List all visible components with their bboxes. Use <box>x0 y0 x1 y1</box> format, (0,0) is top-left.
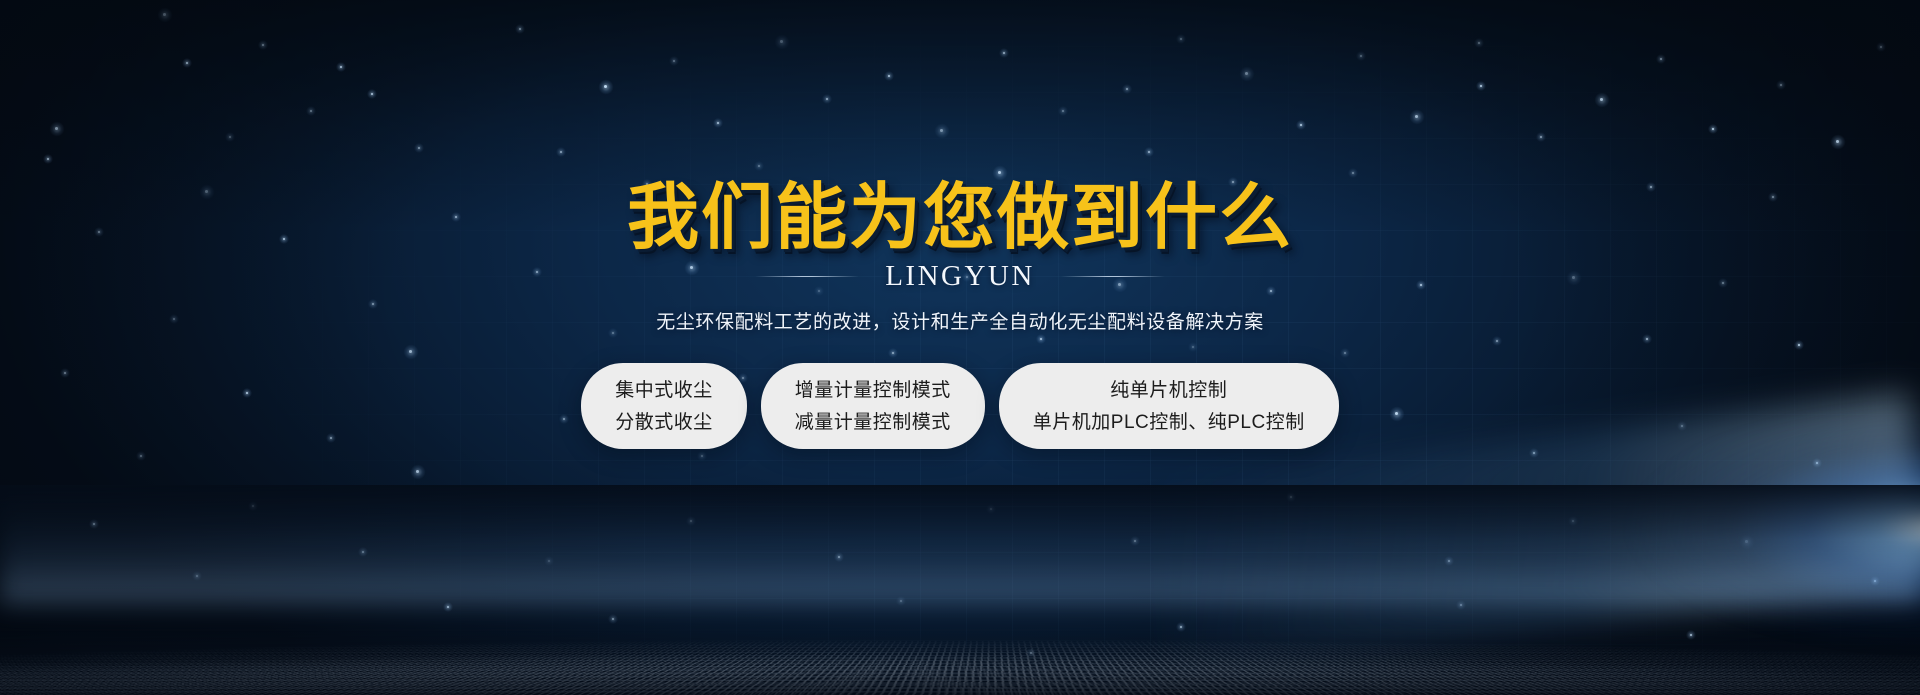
banner-stage: 我们能为您做到什么 LINGYUN 无尘环保配料工艺的改进，设计和生产全自动化无… <box>0 0 1920 695</box>
brand-rule-left <box>755 276 859 277</box>
feature-pill-line: 纯单片机控制 <box>1110 381 1227 400</box>
feature-pill-line: 减量计量控制模式 <box>795 413 951 432</box>
banner-content: 我们能为您做到什么 LINGYUN 无尘环保配料工艺的改进，设计和生产全自动化无… <box>0 0 1920 695</box>
feature-pill[interactable]: 增量计量控制模式减量计量控制模式 <box>761 363 985 449</box>
feature-pill-line: 增量计量控制模式 <box>795 381 951 400</box>
brand-rule-right <box>1061 276 1165 277</box>
feature-pill-line: 分散式收尘 <box>615 413 713 432</box>
feature-pill-line: 单片机加PLC控制、纯PLC控制 <box>1033 413 1305 432</box>
feature-pill-line: 集中式收尘 <box>615 381 713 400</box>
banner-headline: 我们能为您做到什么 <box>0 182 1920 254</box>
feature-pill[interactable]: 集中式收尘分散式收尘 <box>581 363 747 449</box>
brand-row: LINGYUN <box>0 262 1920 291</box>
feature-pill-group: 集中式收尘分散式收尘增量计量控制模式减量计量控制模式纯单片机控制单片机加PLC控… <box>0 363 1920 449</box>
brand-name: LINGYUN <box>885 262 1035 291</box>
banner-subtitle: 无尘环保配料工艺的改进，设计和生产全自动化无尘配料设备解决方案 <box>0 310 1920 337</box>
feature-pill[interactable]: 纯单片机控制单片机加PLC控制、纯PLC控制 <box>999 363 1339 449</box>
